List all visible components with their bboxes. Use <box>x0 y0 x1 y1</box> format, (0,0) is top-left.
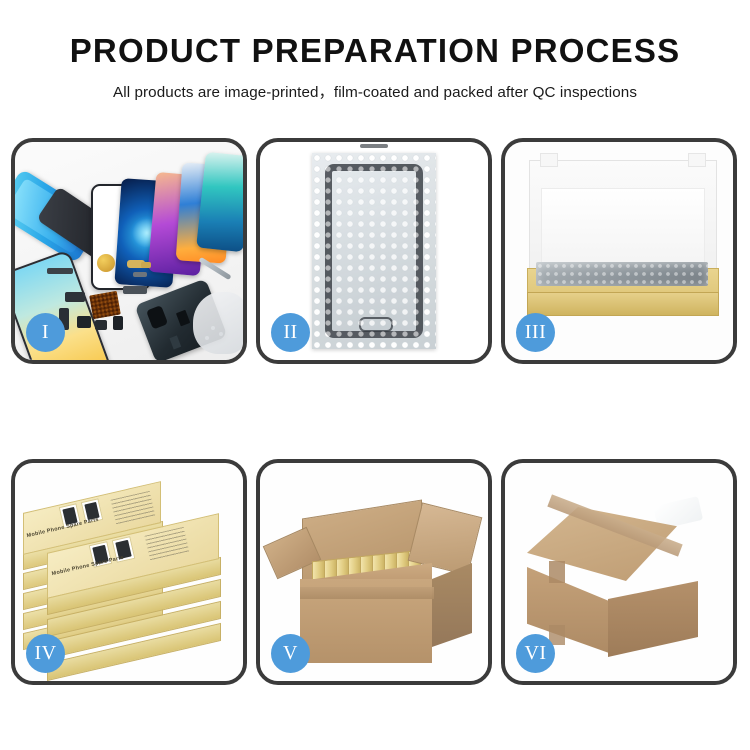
vibrator-part <box>95 320 107 330</box>
gold-contact-part <box>141 262 151 268</box>
steps-grid: I II III <box>11 138 739 685</box>
step-badge-1: I <box>26 313 65 352</box>
foam-insert <box>541 188 705 268</box>
page-header: PRODUCT PREPARATION PROCESS All products… <box>0 0 750 102</box>
page-title: PRODUCT PREPARATION PROCESS <box>0 34 750 69</box>
step-panel-1[interactable]: I <box>11 138 247 364</box>
carton-flap-front <box>300 587 434 599</box>
home-button-outline <box>359 317 393 332</box>
box-front-panel <box>527 292 719 316</box>
speaker-part <box>77 316 91 328</box>
step-panel-2[interactable]: II <box>256 138 492 364</box>
carton-body-side <box>432 563 472 647</box>
camera-module-part <box>65 292 85 302</box>
step-panel-3[interactable]: III <box>501 138 737 364</box>
antenna-part <box>123 286 147 294</box>
step-badge-3: III <box>516 313 555 352</box>
carton-tab-upper <box>549 561 565 583</box>
step-panel-4[interactable]: Mobile Phone Spare Parts Mobile Phone Sp… <box>11 459 247 685</box>
button-part <box>113 316 123 330</box>
step-badge-4: IV <box>26 634 65 673</box>
step-badge-6: VI <box>516 634 555 673</box>
speaker-coil-icon <box>97 254 115 272</box>
earpiece-slot <box>360 144 388 148</box>
hand-silhouette <box>193 292 243 354</box>
phone-screen-outline <box>325 164 423 338</box>
wrapped-screen-in-box <box>536 262 708 286</box>
step-panel-5[interactable]: V <box>256 459 492 685</box>
sealed-carton-side <box>608 581 698 657</box>
pcb-board-icon <box>89 291 121 319</box>
step-badge-2: II <box>271 313 310 352</box>
bubble-wrap-sheet <box>312 153 436 349</box>
step-panel-6[interactable]: VI <box>501 459 737 685</box>
page-subtitle: All products are image-printed，film-coat… <box>0 80 750 102</box>
infographic-page: PRODUCT PREPARATION PROCESS All products… <box>0 0 750 750</box>
step-badge-5: V <box>271 634 310 673</box>
small-cable-part <box>133 272 147 277</box>
flex-cable-part <box>47 268 73 274</box>
